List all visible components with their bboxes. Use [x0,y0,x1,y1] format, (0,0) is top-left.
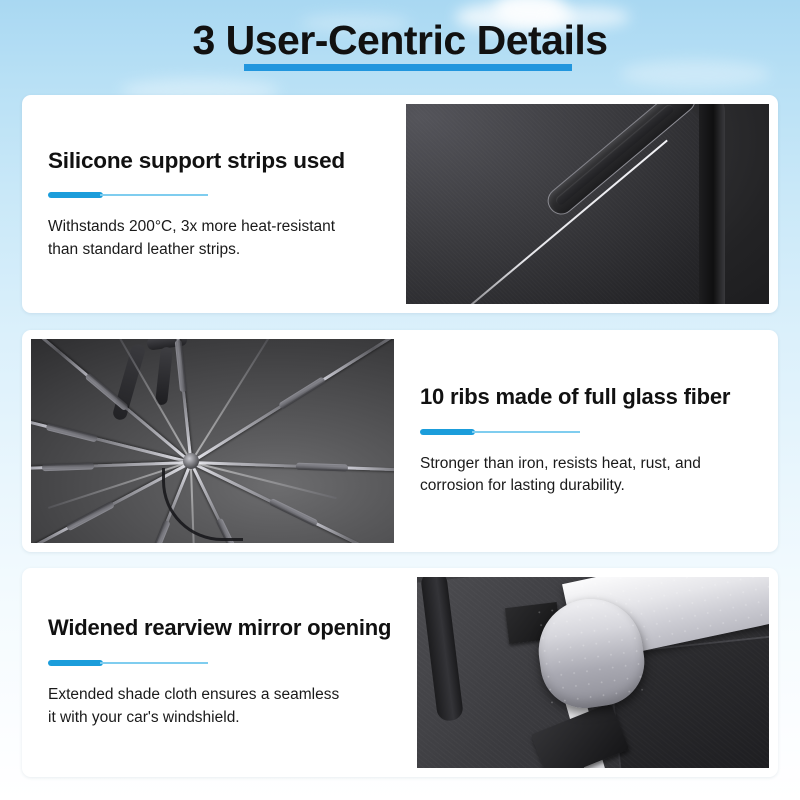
cloud-decoration [620,60,770,88]
feature-card-1-body: Withstands 200°C, 3x more heat-resistant… [48,216,348,261]
feature-card-2-layout: 10 ribs made of full glass fiber Stronge… [22,330,778,552]
feature-card-1: Silicone support strips used Withstands … [22,95,778,313]
umbrella-rib [31,406,191,465]
divider-thin-line [100,194,208,196]
sunshade-panel-edge [699,104,725,304]
page-title-container: 3 User-Centric Details [0,18,800,64]
feature-card-1-image-pane [406,95,778,313]
feature-card-1-layout: Silicone support strips used Withstands … [22,95,778,313]
divider-thin-line [472,431,580,433]
title-underline [244,64,572,71]
umbrella-glass-fiber-ribs-photo [31,339,394,543]
divider-thin-line [100,662,208,664]
divider-accent-bar [48,192,103,198]
feature-card-2-divider [420,429,580,435]
umbrella-shaft [155,347,173,406]
feature-card-2-text: 10 ribs made of full glass fiber Stronge… [394,330,778,552]
feature-card-3-layout: Widened rearview mirror opening Extended… [22,568,778,777]
page-title: 3 User-Centric Details [192,18,607,64]
rearview-mirror-opening-photo [417,577,769,768]
silicone-support-strip-photo [406,104,769,304]
umbrella-cord [162,468,243,541]
umbrella-stretcher [190,339,271,463]
feature-card-3-heading: Widened rearview mirror opening [48,615,391,642]
feature-card-1-heading: Silicone support strips used [48,147,380,174]
feature-card-3-body: Extended shade cloth ensures a seamless … [48,684,348,729]
feature-card-2-image-pane [22,330,394,552]
feature-card-3-text: Widened rearview mirror opening Extended… [22,568,417,777]
feature-card-3-divider [48,660,208,666]
feature-card-2-body: Stronger than iron, resists heat, rust, … [420,453,720,498]
feature-card-3: Widened rearview mirror opening Extended… [22,568,778,777]
feature-card-2: 10 ribs made of full glass fiber Stronge… [22,330,778,552]
feature-card-1-text: Silicone support strips used Withstands … [22,95,406,313]
divider-accent-bar [48,660,103,666]
umbrella-rib [190,339,394,464]
feature-card-1-divider [48,192,208,198]
feature-card-2-heading: 10 ribs made of full glass fiber [420,384,752,411]
infographic-page: 3 User-Centric Details Silicone support … [0,0,800,800]
feature-card-3-image-pane [417,568,778,777]
page-title-text: 3 User-Centric Details [192,17,607,63]
divider-accent-bar [420,429,475,435]
